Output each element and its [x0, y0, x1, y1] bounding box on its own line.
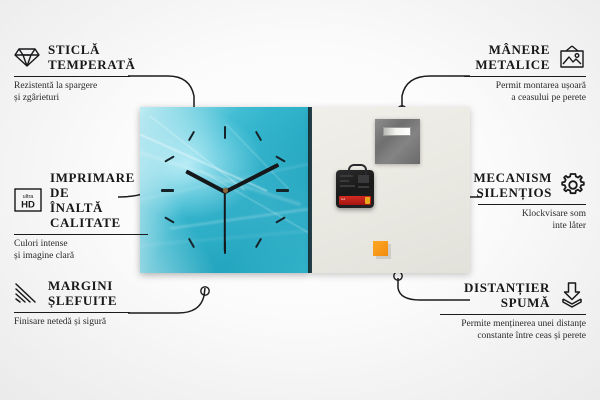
- callout-divider: [478, 204, 586, 205]
- movement-hanging-loop: [348, 164, 367, 175]
- callout-manere-metalice[interactable]: MÂNERE METALICE Permit montarea ușoară a…: [464, 42, 586, 104]
- movement-detail: [340, 175, 353, 177]
- callout-title: MECANISM SILENȚIOS: [474, 170, 552, 200]
- hour-marker-4: [275, 216, 286, 223]
- metal-hanger-plate: [375, 119, 420, 164]
- battery-label: AA: [341, 197, 345, 201]
- clock-face-panel: [140, 107, 310, 273]
- callout-subtitle-2: și zgârieturi: [14, 93, 130, 105]
- callout-subtitle-1: Finisare netedă și sigură: [14, 317, 130, 329]
- hour-marker-8: [164, 216, 175, 223]
- callout-subtitle-1: Permit montarea ușoară: [464, 81, 586, 93]
- callout-mecanism-silentios[interactable]: MECANISM SILENȚIOS Klockvisare som inte …: [478, 170, 586, 232]
- product-photo: AA: [140, 107, 470, 273]
- movement-detail: [340, 185, 355, 187]
- hour-marker-5: [255, 238, 262, 249]
- callout-subtitle-1: Klockvisare som: [478, 209, 586, 221]
- hanger-slot: [383, 127, 411, 136]
- hour-marker-2: [275, 155, 286, 162]
- clock-back-panel: AA: [312, 107, 470, 273]
- battery: AA: [339, 196, 371, 205]
- callout-header: MÂNERE METALICE: [464, 42, 586, 72]
- callout-divider: [464, 76, 586, 77]
- hour-marker-11: [188, 131, 195, 142]
- hour-marker-12: [224, 126, 226, 139]
- hour-marker-7: [188, 238, 195, 249]
- svg-text:HD: HD: [21, 200, 35, 211]
- callout-subtitle-2: a ceasului pe perete: [464, 93, 586, 105]
- infographic-canvas: AA STICLĂ TEMPERATĂ Rezistentă la s: [0, 0, 600, 400]
- ultra-hd-icon: ultra HD: [14, 188, 42, 212]
- callout-divider: [14, 76, 130, 77]
- callout-header: STICLĂ TEMPERATĂ: [14, 42, 130, 72]
- beveled-edge-icon: [14, 281, 40, 305]
- callout-subtitle-2: inte låter: [478, 221, 586, 233]
- hour-hand: [185, 170, 226, 194]
- minute-hand: [224, 163, 279, 194]
- callout-divider: [14, 312, 130, 313]
- clock-movement: AA: [336, 170, 374, 208]
- callout-subtitle-1: Permite menținerea unei distanțe: [440, 319, 586, 331]
- connector-margini: [128, 288, 205, 313]
- hour-marker-3: [276, 189, 289, 192]
- battery-terminal: [365, 197, 370, 204]
- callout-title: DISTANȚIER SPUMĂ: [464, 280, 550, 310]
- callout-subtitle-2: constante între ceas și perete: [440, 331, 586, 343]
- callout-header: ultra HD IMPRIMARE DE ÎNALTĂ CALITATE: [14, 170, 148, 230]
- hands-center-pin: [223, 188, 228, 193]
- callout-header: MECANISM SILENȚIOS: [478, 170, 586, 200]
- hour-marker-9: [161, 189, 174, 192]
- callout-sticla-temperata[interactable]: STICLĂ TEMPERATĂ Rezistentă la spargere …: [14, 42, 130, 104]
- clock-dial: [140, 107, 310, 273]
- movement-detail: [358, 175, 369, 183]
- callout-subtitle-1: Culori intense: [14, 239, 148, 251]
- movement-detail: [340, 180, 349, 182]
- picture-hanger-icon: [558, 45, 586, 69]
- gear-icon: [560, 172, 586, 198]
- callout-title: STICLĂ TEMPERATĂ: [48, 42, 136, 72]
- foam-spacer: [373, 241, 388, 256]
- arrow-down-pad-icon: [558, 282, 586, 308]
- callout-margini-slefuite[interactable]: MARGINI ȘLEFUITE Finisare netedă și sigu…: [14, 278, 130, 329]
- hour-marker-1: [255, 131, 262, 142]
- callout-imprimare-inalta-calitate[interactable]: ultra HD IMPRIMARE DE ÎNALTĂ CALITATE Cu…: [14, 170, 148, 262]
- callout-distantier-spuma[interactable]: DISTANȚIER SPUMĂ Permite menținerea unei…: [440, 280, 586, 342]
- callout-divider: [14, 234, 148, 235]
- callout-header: MARGINI ȘLEFUITE: [14, 278, 130, 308]
- callout-header: DISTANȚIER SPUMĂ: [440, 280, 586, 310]
- callout-title: IMPRIMARE DE ÎNALTĂ CALITATE: [50, 170, 148, 230]
- diamond-icon: [14, 46, 40, 68]
- callout-subtitle-2: și imagine clară: [14, 251, 148, 263]
- callout-title: MARGINI ȘLEFUITE: [48, 278, 117, 308]
- callout-title: MÂNERE METALICE: [475, 42, 550, 72]
- callout-divider: [440, 314, 586, 315]
- hour-marker-10: [164, 155, 175, 162]
- second-hand: [224, 192, 226, 252]
- callout-subtitle-1: Rezistentă la spargere: [14, 81, 130, 93]
- movement-detail: [358, 186, 369, 188]
